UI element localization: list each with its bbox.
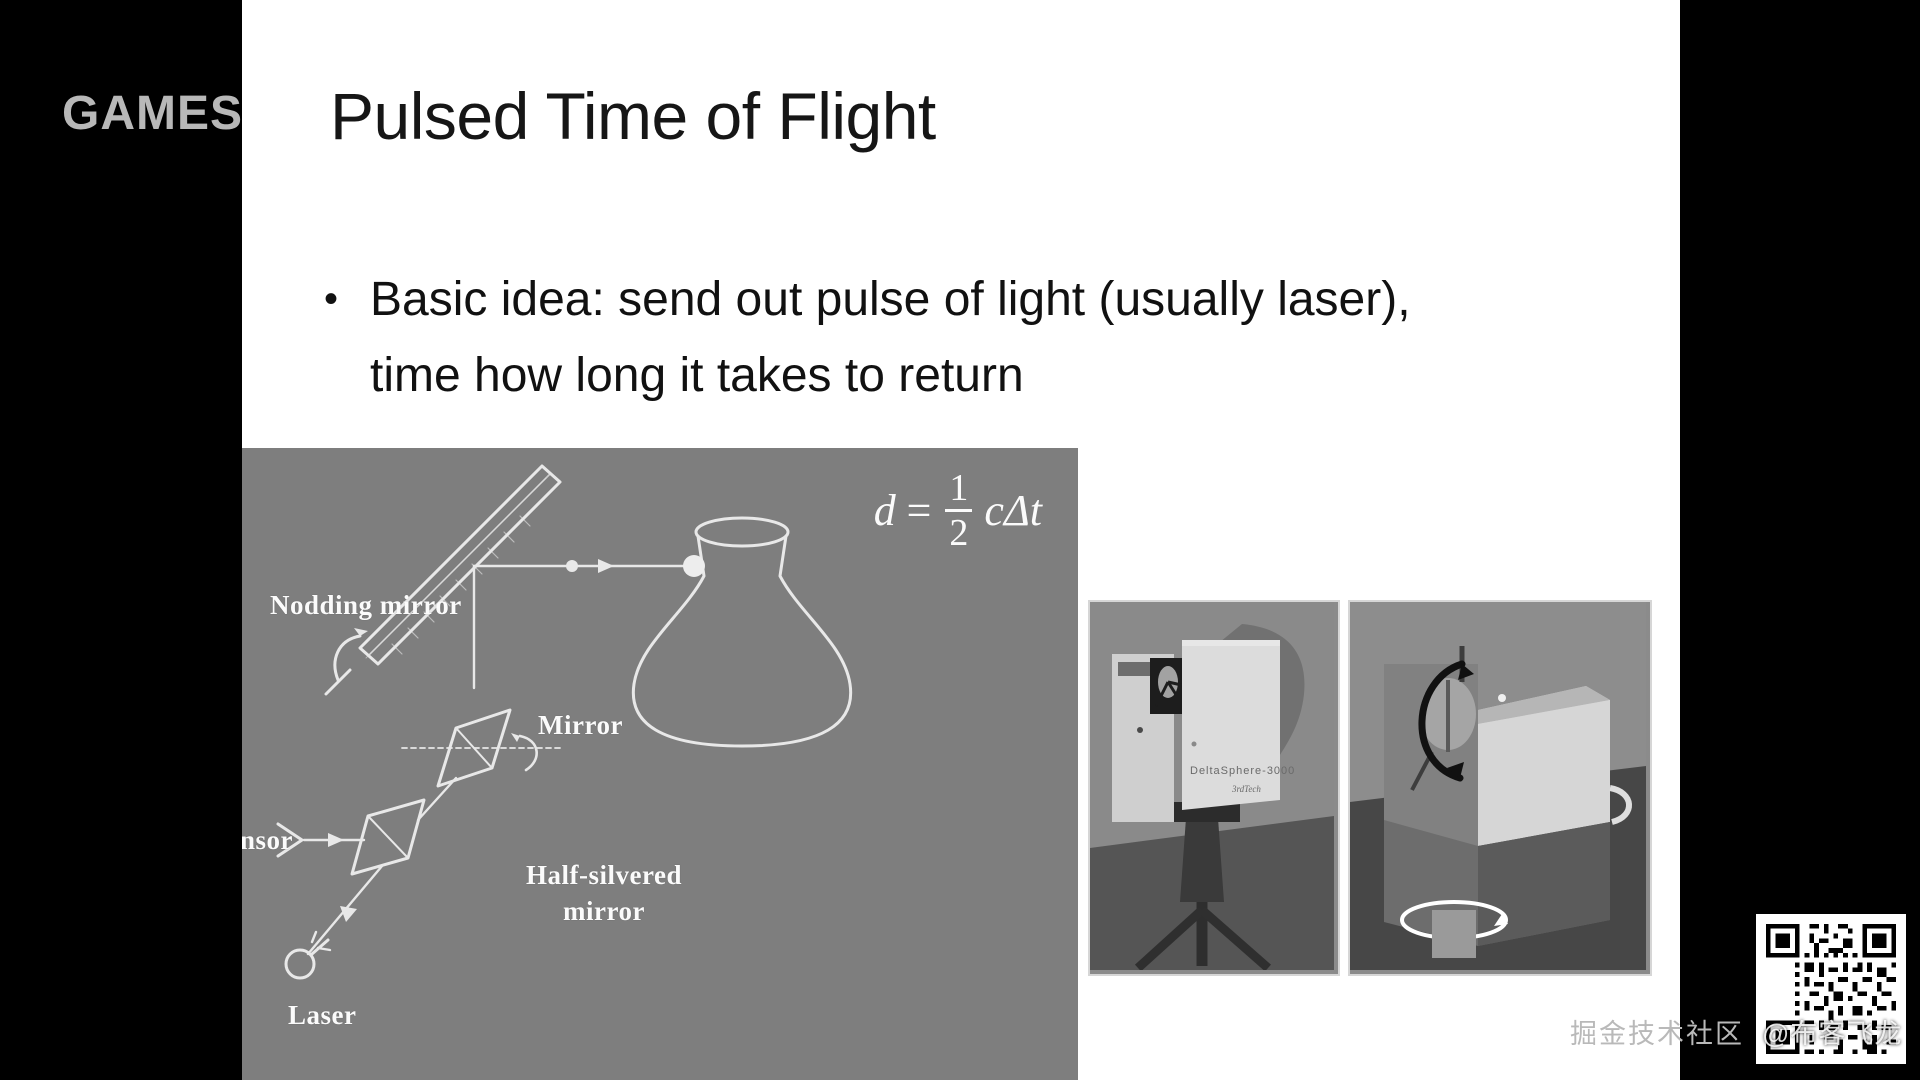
bullet-list-item: • Basic idea: send out pulse of light (u… — [324, 262, 1504, 414]
label-mirror: Mirror — [538, 710, 623, 741]
label-half-silvered-mirror-line2: mirror — [494, 896, 714, 927]
video-player-stage: GAMES Pulsed Time of Flight • Basic idea… — [0, 0, 1920, 1080]
svg-text:DeltaSphere-3000: DeltaSphere-3000 — [1190, 765, 1295, 777]
formula-equals: = — [904, 485, 934, 536]
label-half-silvered-mirror-line1: Half-silvered — [494, 860, 714, 891]
distance-formula: d = 1 2 cΔt — [874, 470, 1042, 551]
letterbox-left-bar: GAMES — [0, 0, 242, 1080]
label-laser: Laser — [288, 1000, 356, 1031]
photo-scanner-rotation — [1348, 600, 1652, 976]
formula-numerator: 1 — [945, 470, 972, 506]
formula-rhs: cΔt — [984, 485, 1042, 536]
site-credit-watermark: 掘金技术社区 — [1570, 1012, 1744, 1051]
formula-denominator: 2 — [945, 515, 972, 551]
bullet-marker-icon: • — [324, 262, 370, 336]
label-nodding-mirror: Nodding mirror — [270, 590, 462, 621]
games-brand-logo: GAMES — [62, 86, 243, 141]
photo-left-art: DeltaSphere-3000 3rdTech — [1090, 602, 1334, 970]
optical-path-diagram: d = 1 2 cΔt Nodding mirror Mirror Sensor… — [242, 448, 1078, 1080]
bullet-text: Basic idea: send out pulse of light (usu… — [370, 262, 1455, 414]
photo-deltasphere-scanner: DeltaSphere-3000 3rdTech — [1088, 600, 1340, 976]
slide-canvas: Pulsed Time of Flight • Basic idea: send… — [242, 0, 1680, 1080]
site-credit-text: 掘金技术社区 — [1570, 1019, 1744, 1049]
formula-fraction: 1 2 — [945, 470, 972, 551]
photo-right-art — [1350, 602, 1646, 970]
formula-lhs: d — [874, 485, 896, 536]
svg-text:3rdTech: 3rdTech — [1231, 784, 1261, 794]
author-handle-watermark: @布客飞龙 — [1762, 1012, 1912, 1051]
slide-title: Pulsed Time of Flight — [330, 78, 936, 154]
label-sensor: Sensor — [242, 825, 293, 856]
